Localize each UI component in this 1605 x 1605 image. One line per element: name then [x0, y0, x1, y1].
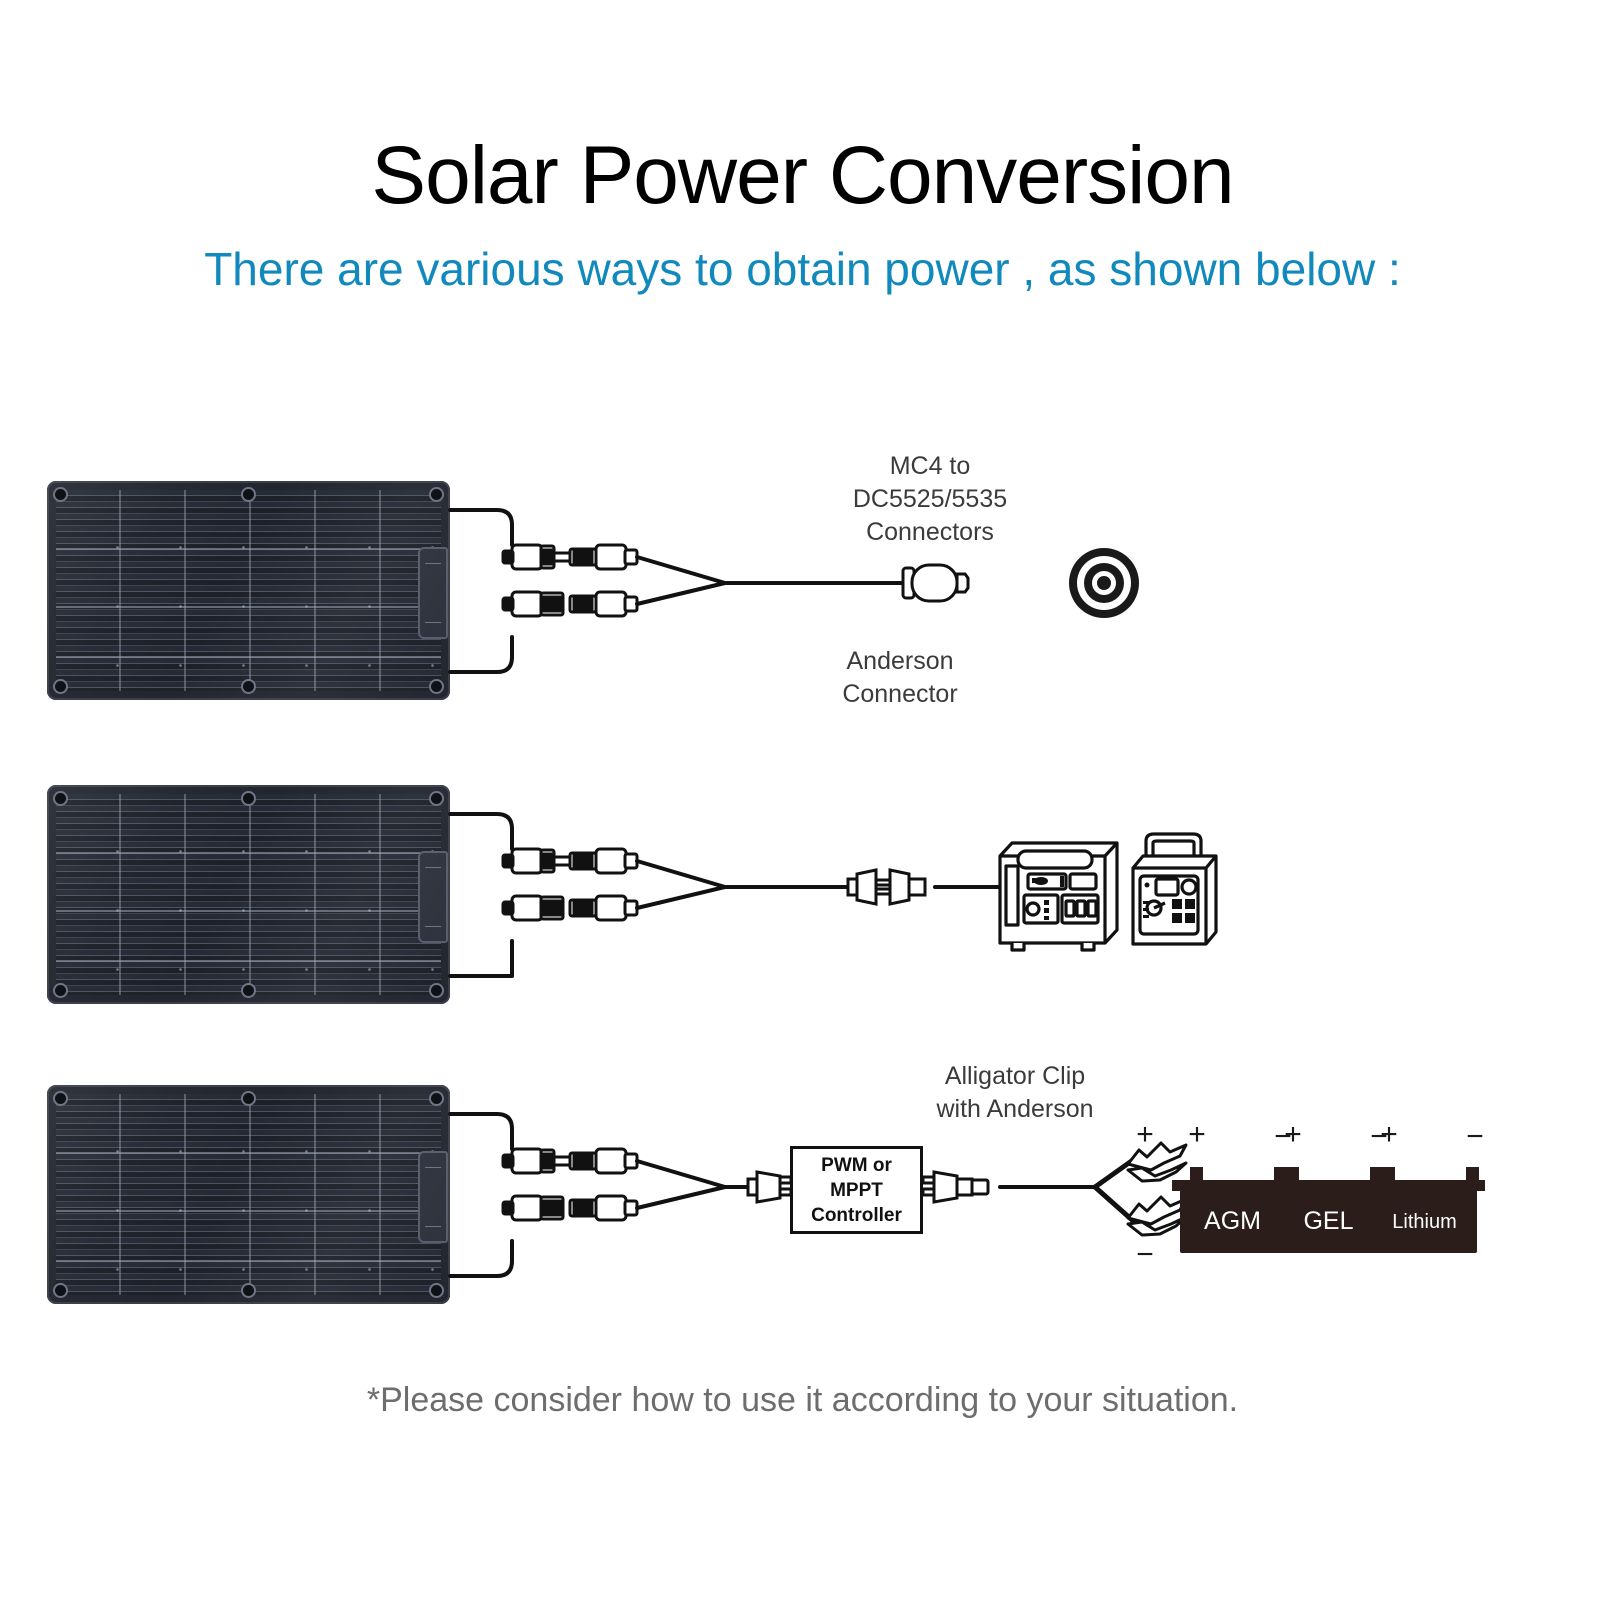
- clip-plus-sign: +: [1130, 1120, 1160, 1150]
- footnote-text: *Please consider how to use it according…: [0, 1378, 1605, 1422]
- mc4-connector: [503, 1149, 571, 1173]
- battery-plus-sign: +: [1374, 1120, 1404, 1150]
- mc4-connector: [503, 1196, 563, 1220]
- mc4-connector: [570, 1149, 637, 1173]
- battery-body: Lithium: [1372, 1190, 1477, 1253]
- anderson-connector-icon: [748, 1172, 791, 1202]
- battery-minus-sign: −: [1460, 1122, 1490, 1152]
- battery-plus-sign: +: [1182, 1120, 1212, 1150]
- battery-terminal-post: [1286, 1167, 1299, 1181]
- battery-terminal-post: [1190, 1167, 1203, 1181]
- clip-minus-sign: −: [1130, 1240, 1160, 1270]
- charge-controller-box: PWM or MPPT Controller: [790, 1146, 923, 1234]
- controller-label: PWM or MPPT Controller: [793, 1153, 920, 1228]
- battery-label: Lithium: [1372, 1212, 1477, 1232]
- battery-label: AGM: [1180, 1209, 1285, 1234]
- mc4-connector: [570, 1196, 637, 1220]
- row3-wiring-diagram: [0, 0, 1605, 1605]
- battery-plus-sign: +: [1278, 1120, 1308, 1150]
- infographic-page: Solar Power Conversion There are various…: [0, 0, 1605, 1605]
- anderson-connector-icon: [923, 1172, 988, 1202]
- battery-terminal-post: [1466, 1167, 1479, 1181]
- battery-label: GEL: [1276, 1209, 1381, 1234]
- alligator-clip-icon: [1128, 1197, 1186, 1235]
- battery-body: GEL: [1276, 1190, 1381, 1253]
- battery-terminal-post: [1382, 1167, 1395, 1181]
- battery-body: AGM: [1180, 1190, 1285, 1253]
